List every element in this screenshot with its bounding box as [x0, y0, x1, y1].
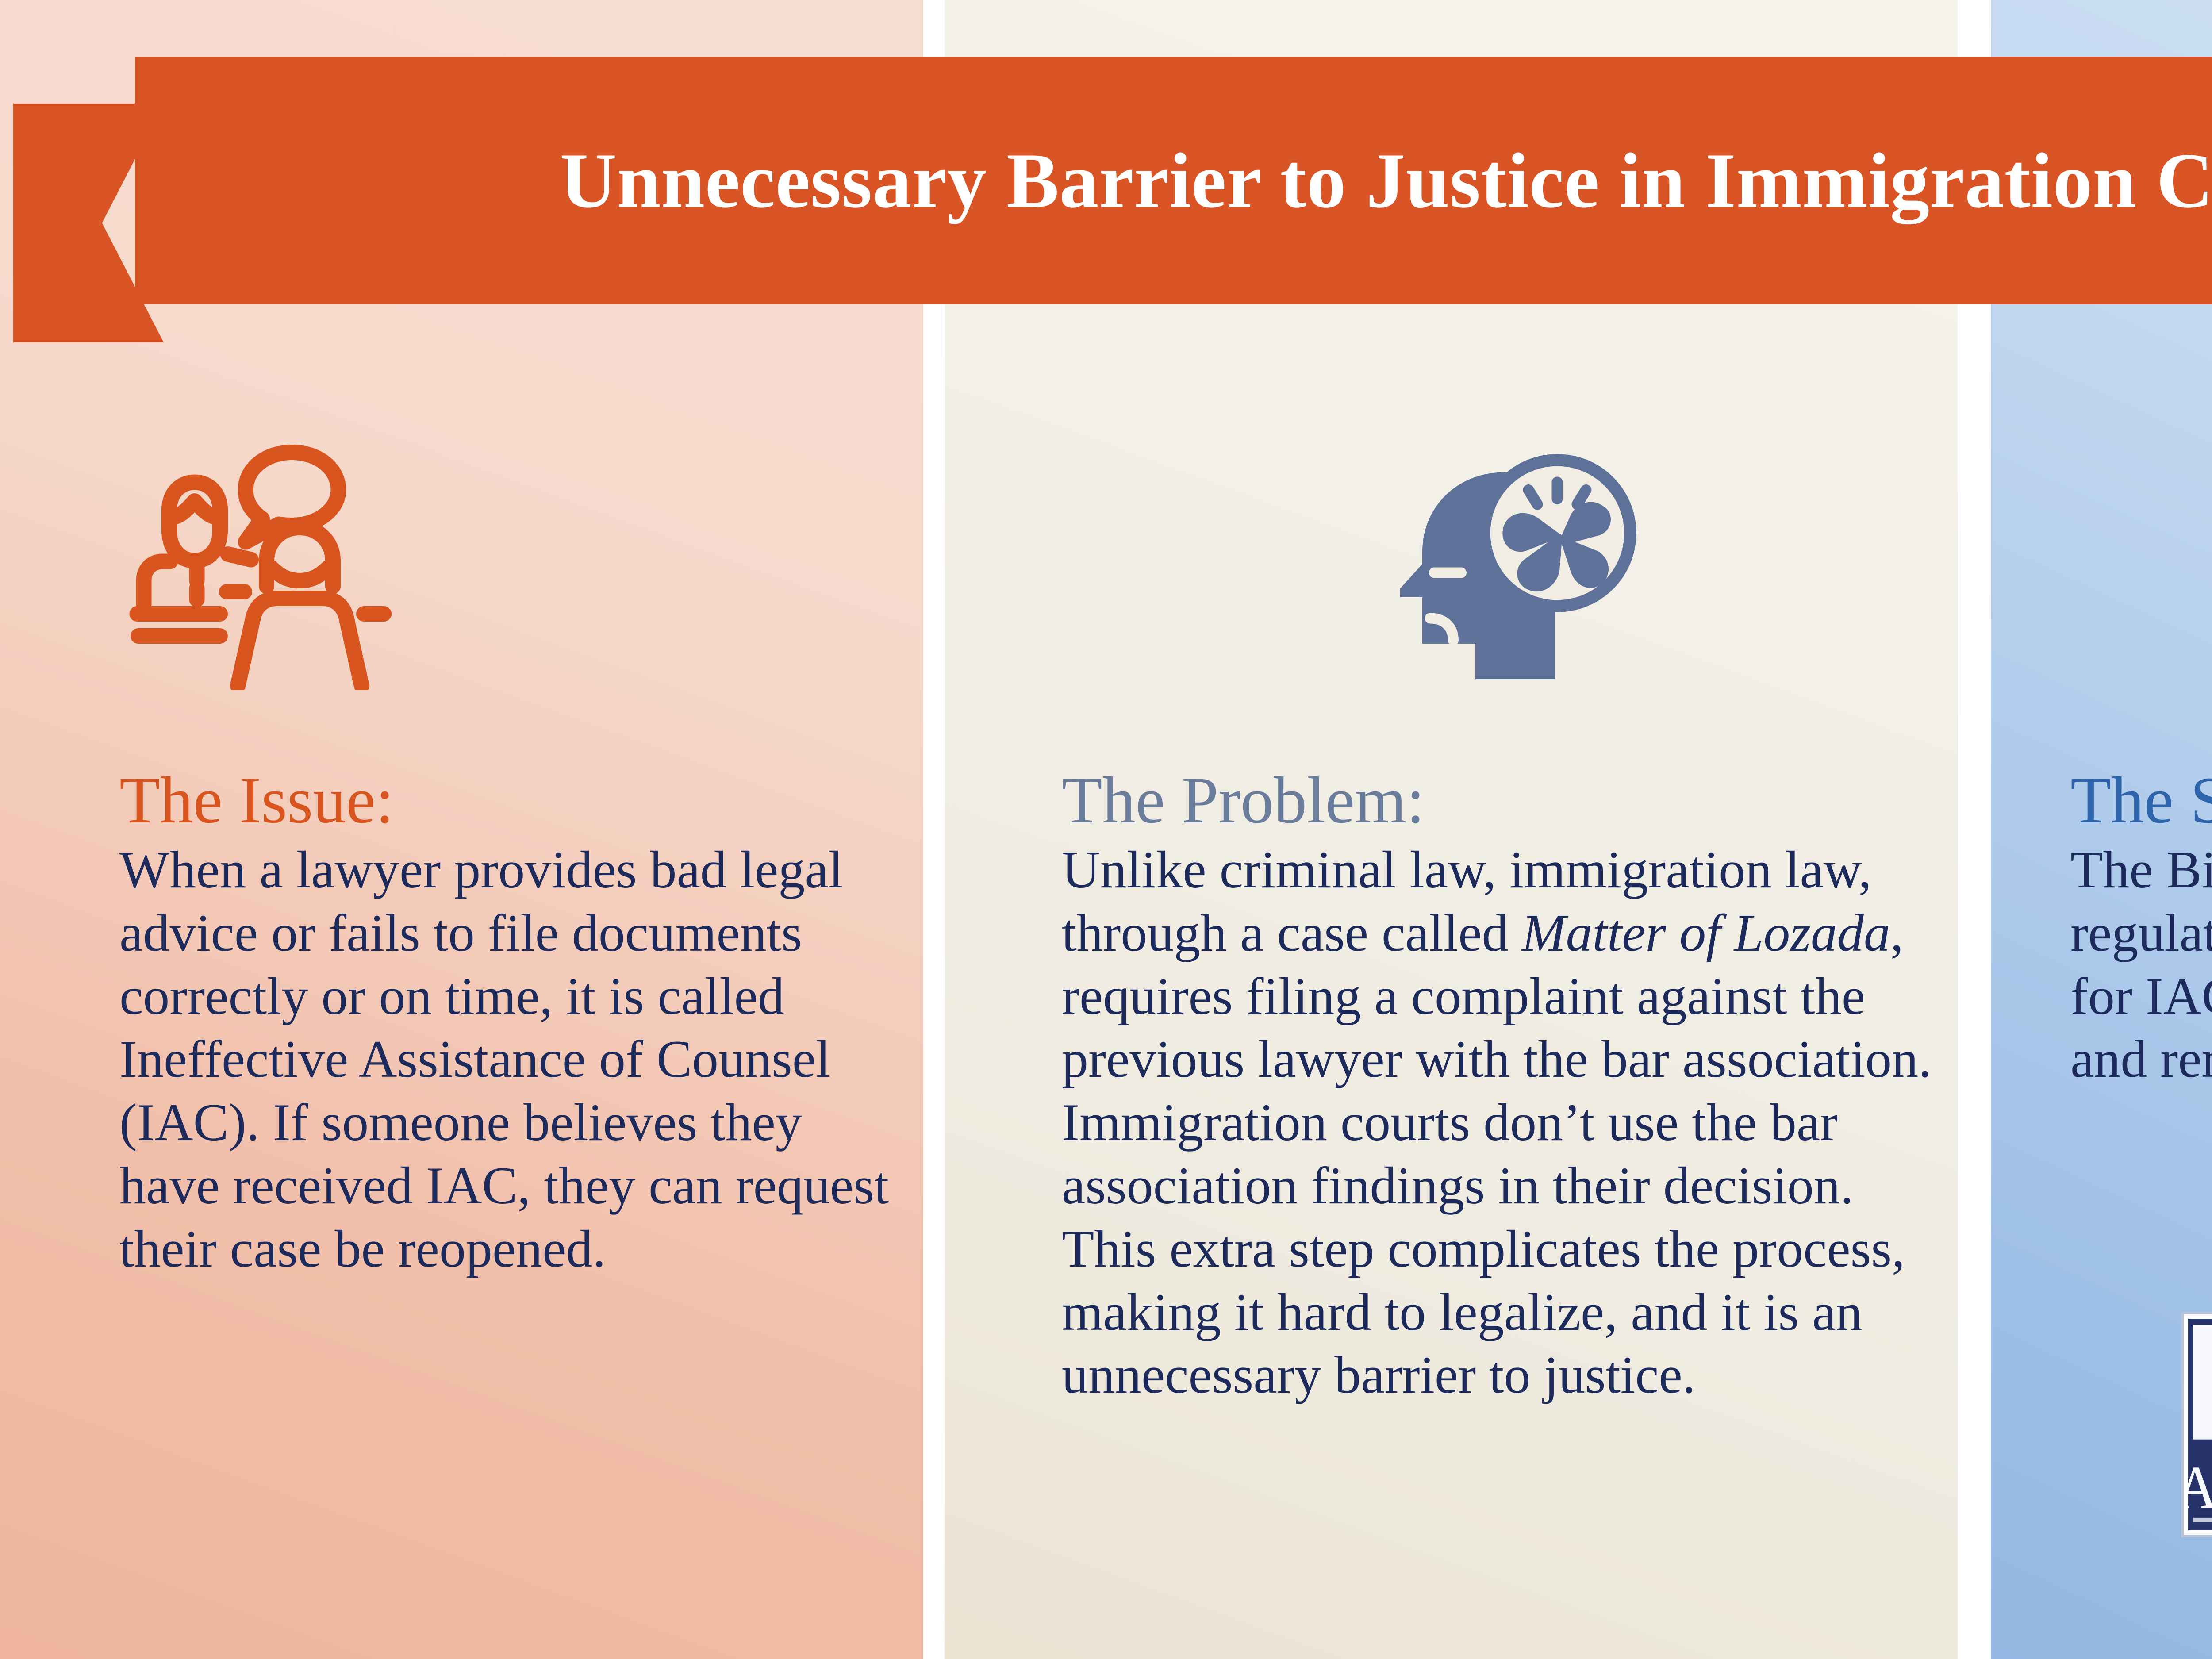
title-ribbon: Unnecessary Barrier to Justice in Immigr…: [0, 57, 2212, 340]
heading-problem: The Problem:: [1062, 765, 1951, 836]
body-issue: When a lawyer provides bad legal advice …: [119, 838, 898, 1281]
svg-text:AILA: AILA: [2188, 1454, 2212, 1522]
ribbon-band: Unnecessary Barrier to Justice in Immigr…: [135, 57, 2212, 304]
heading-issue: The Issue:: [119, 765, 898, 836]
icon-box-solution: [2070, 367, 2212, 765]
column-issue: The Issue: When a lawyer provides bad le…: [119, 367, 898, 1281]
case-name-lozada: Matter of Lozada: [1522, 903, 1890, 962]
people-consultation-icon: [119, 442, 394, 690]
icon-box-issue: [119, 367, 898, 765]
aila-logo-mark-inner: AILA: [2188, 1319, 2212, 1530]
body-problem-part2: , requires filing a complaint against th…: [1062, 903, 1932, 1405]
aila-logo: AILA AMERICAN IMMIGRATION LAWYERS ASSOCI…: [2181, 1312, 2212, 1537]
heading-solution: The Solution:: [2070, 765, 2212, 836]
eye: [1429, 568, 1467, 578]
page-title: Unnecessary Barrier to Justice in Immigr…: [560, 141, 2212, 220]
confused-head-icon: [1365, 442, 1648, 690]
infographic-canvas: Unnecessary Barrier to Justice in Immigr…: [0, 0, 2212, 1659]
aila-logo-mark: AILA: [2181, 1312, 2212, 1537]
body-problem: Unlike criminal law, immigration law, th…: [1062, 838, 1951, 1407]
body-solution: The Biden Administration can issue regul…: [2070, 838, 2212, 1091]
column-solution: The Solution: The Biden Administration c…: [2070, 367, 2212, 1091]
statue-of-liberty-icon: AILA: [2188, 1319, 2212, 1530]
icon-box-problem: [1062, 367, 1951, 765]
column-problem: The Problem: Unlike criminal law, immigr…: [1062, 367, 1951, 1407]
